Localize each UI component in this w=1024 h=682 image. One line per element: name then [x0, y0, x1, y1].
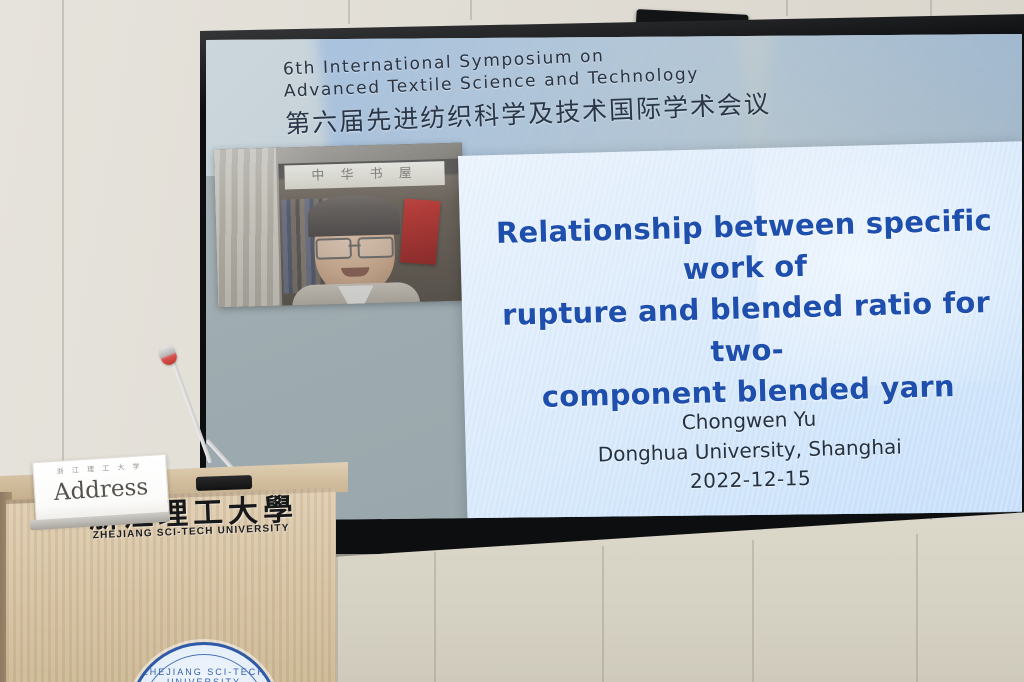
video-tile-overlay	[214, 143, 466, 308]
slide-author-block: Chongwen Yu Donghua University, Shanghai…	[491, 400, 1009, 502]
slide-title-line2: rupture and blended ratio for two-	[488, 282, 1006, 378]
slide-title: Relationship between specific work of ru…	[486, 200, 1007, 419]
presentation-slide[interactable]: Relationship between specific work of ru…	[458, 141, 1022, 526]
display-panel[interactable]: 6th International Symposium on Advanced …	[206, 34, 1022, 532]
seal-text: ZHEJIANG SCI-TECH UNIVERSITY	[131, 667, 277, 682]
slide-title-line1: Relationship between specific work of	[486, 200, 1004, 296]
name-card-label: Address	[34, 473, 167, 507]
wall-seam	[434, 552, 436, 682]
remote-speaker-video-tile[interactable]: 中 华 书 屋	[214, 143, 466, 308]
wall-seam	[752, 540, 754, 682]
wall-seam	[336, 556, 338, 682]
wall-seam	[602, 546, 604, 682]
wall-seam	[916, 534, 918, 682]
conference-room-scene: 6th International Symposium on Advanced …	[0, 0, 1024, 682]
